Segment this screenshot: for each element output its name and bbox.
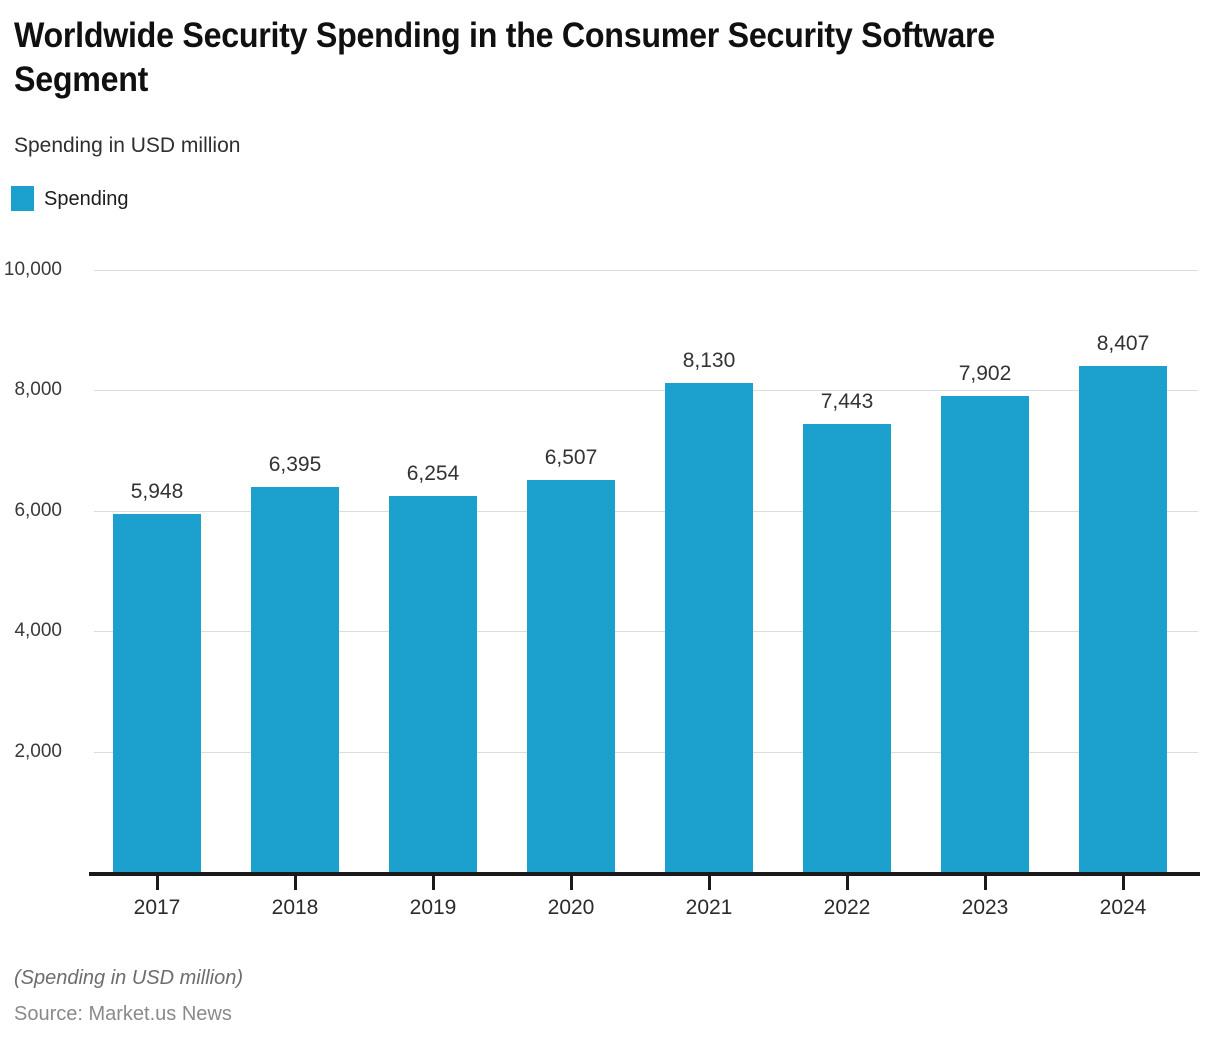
x-axis-tick-label: 2023 bbox=[920, 896, 1050, 920]
x-axis-tick-mark bbox=[432, 876, 435, 890]
bar[interactable] bbox=[1079, 366, 1167, 872]
bar[interactable] bbox=[389, 496, 477, 872]
x-axis-line bbox=[89, 872, 1200, 876]
x-axis-tick-mark bbox=[984, 876, 987, 890]
y-axis-tick-label: 4,000 bbox=[0, 621, 62, 640]
x-axis-tick-mark bbox=[846, 876, 849, 890]
bar[interactable] bbox=[665, 383, 753, 872]
plot-area: 2,0004,0006,0008,00010,000 5,9486,3956,2… bbox=[94, 264, 1200, 876]
x-axis-tick-label: 2020 bbox=[506, 896, 636, 920]
bar-value-label: 8,130 bbox=[649, 350, 769, 371]
bar-value-label: 6,395 bbox=[235, 454, 355, 475]
x-axis-tick-mark bbox=[294, 876, 297, 890]
chart-page: Worldwide Security Spending in the Consu… bbox=[0, 0, 1220, 1044]
page-title: Worldwide Security Spending in the Consu… bbox=[14, 14, 1044, 102]
y-axis-tick-label: 6,000 bbox=[0, 501, 62, 520]
bar-value-label: 6,507 bbox=[511, 447, 631, 468]
y-axis-tick-label: 8,000 bbox=[0, 380, 62, 399]
bar[interactable] bbox=[941, 396, 1029, 872]
gridline bbox=[94, 390, 1198, 391]
bar-value-label: 7,902 bbox=[925, 363, 1045, 384]
gridline bbox=[94, 270, 1198, 271]
bar-value-label: 6,254 bbox=[373, 463, 493, 484]
x-axis-tick-label: 2021 bbox=[644, 896, 774, 920]
footer-note: (Spending in USD million) bbox=[14, 966, 243, 990]
x-axis-tick-label: 2024 bbox=[1058, 896, 1188, 920]
bar[interactable] bbox=[113, 514, 201, 872]
x-axis-tick-mark bbox=[156, 876, 159, 890]
bar-value-label: 8,407 bbox=[1063, 333, 1183, 354]
footer-source: Source: Market.us News bbox=[14, 1002, 232, 1026]
y-axis-tick-label: 2,000 bbox=[0, 742, 62, 761]
x-axis-tick-mark bbox=[1122, 876, 1125, 890]
y-axis-tick-label: 10,000 bbox=[0, 260, 62, 279]
legend-swatch-spending bbox=[11, 186, 34, 211]
bar-value-label: 5,948 bbox=[97, 481, 217, 502]
chart-subtitle: Spending in USD million bbox=[14, 133, 240, 159]
x-axis-tick-label: 2018 bbox=[230, 896, 360, 920]
legend-label-spending: Spending bbox=[44, 188, 129, 210]
bar-value-label: 7,443 bbox=[787, 391, 907, 412]
x-axis-tick-mark bbox=[708, 876, 711, 890]
bar[interactable] bbox=[527, 480, 615, 872]
chart-legend: Spending bbox=[11, 186, 129, 211]
x-axis-tick-label: 2022 bbox=[782, 896, 912, 920]
x-axis-tick-label: 2017 bbox=[92, 896, 222, 920]
x-axis-tick-label: 2019 bbox=[368, 896, 498, 920]
x-axis-tick-mark bbox=[570, 876, 573, 890]
bar[interactable] bbox=[803, 424, 891, 872]
bar[interactable] bbox=[251, 487, 339, 872]
